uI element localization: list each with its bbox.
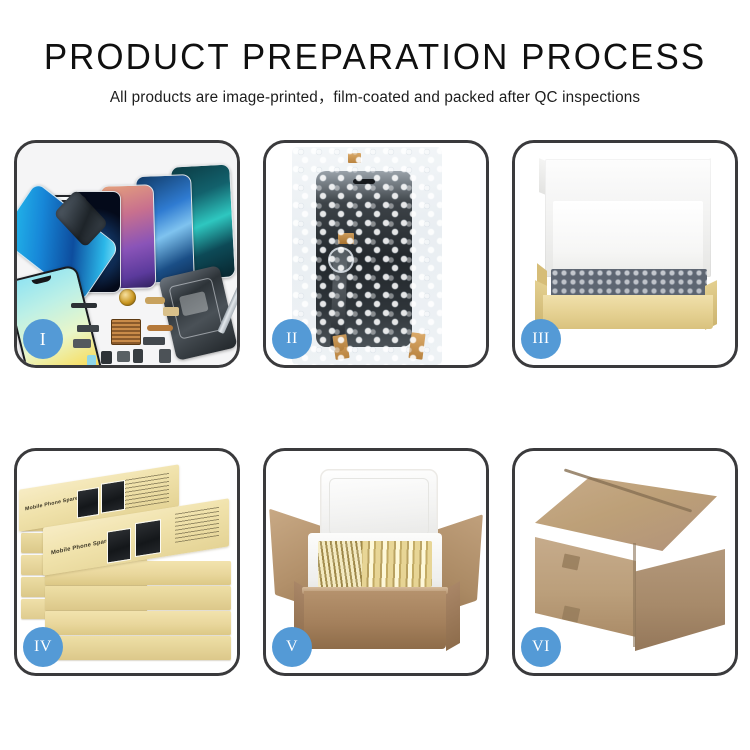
page-title: PRODUCT PREPARATION PROCESS bbox=[11, 38, 739, 76]
product-preparation-process-page: PRODUCT PREPARATION PROCESS All products… bbox=[0, 0, 750, 750]
step-badge-6: VI bbox=[521, 627, 561, 667]
sealed-carton-tape-upper bbox=[562, 553, 581, 570]
box-label-window-front-1 bbox=[107, 528, 131, 564]
component-j bbox=[133, 349, 143, 363]
small-components-cluster bbox=[71, 293, 197, 365]
bubble-texture-layer-2 bbox=[292, 147, 442, 365]
process-step-panel-5[interactable]: V bbox=[263, 448, 489, 676]
sealed-carton-tape-lower bbox=[562, 605, 581, 622]
copper-cable-f bbox=[147, 325, 173, 331]
component-k bbox=[87, 355, 96, 365]
component-l bbox=[159, 349, 171, 363]
box-kraft-front bbox=[543, 295, 713, 329]
kraft-boxes-inside-foam bbox=[318, 541, 432, 587]
flex-cable-b bbox=[77, 325, 99, 332]
step-badge-4: IV bbox=[23, 627, 63, 667]
process-step-panel-6[interactable]: VI bbox=[512, 448, 738, 676]
component-h bbox=[101, 351, 112, 364]
box-label-window-rear-2 bbox=[101, 480, 125, 514]
stacked-box-front-3 bbox=[45, 611, 231, 635]
box-label-textlines-rear bbox=[125, 472, 169, 509]
gold-connector-d bbox=[145, 297, 165, 304]
bubble-wrap-bag bbox=[292, 147, 442, 365]
copper-chip-grid bbox=[111, 319, 141, 345]
step-badge-5: V bbox=[272, 627, 312, 667]
process-step-panel-3[interactable]: III bbox=[512, 140, 738, 368]
page-subtitle: All products are image-printed，film-coat… bbox=[6, 85, 745, 107]
connector-g bbox=[143, 337, 165, 345]
process-step-panel-2[interactable]: II bbox=[263, 140, 489, 368]
gold-connector-e bbox=[163, 307, 179, 316]
wireless-charging-coil bbox=[119, 289, 136, 306]
step-badge-3: III bbox=[521, 319, 561, 359]
sealed-carton-front bbox=[535, 537, 636, 637]
component-i bbox=[117, 351, 130, 362]
sealed-carton-vertical-edge bbox=[633, 543, 636, 647]
header: PRODUCT PREPARATION PROCESS All products… bbox=[0, 0, 750, 107]
process-step-panel-1[interactable]: I bbox=[14, 140, 240, 368]
step-badge-1: I bbox=[23, 319, 63, 359]
flex-cable-a bbox=[71, 303, 97, 308]
connector-c bbox=[73, 339, 91, 348]
stacked-box-front-4 bbox=[45, 636, 231, 660]
process-step-panel-4[interactable]: Mobile Phone Spare Parts Mobile Phone Sp… bbox=[14, 448, 240, 676]
box-label-textlines-front bbox=[175, 506, 219, 543]
box-label-window-rear-1 bbox=[77, 487, 99, 518]
box-label-window-front-2 bbox=[135, 519, 161, 557]
box-foam-sheet bbox=[553, 201, 703, 273]
carton-front-panel bbox=[304, 591, 446, 649]
stacked-box-front-2 bbox=[45, 586, 231, 610]
process-step-grid: I II bbox=[14, 140, 738, 676]
sealed-carton-side bbox=[635, 549, 725, 651]
step-badge-2: II bbox=[272, 319, 312, 359]
carton-side-right bbox=[446, 581, 460, 651]
